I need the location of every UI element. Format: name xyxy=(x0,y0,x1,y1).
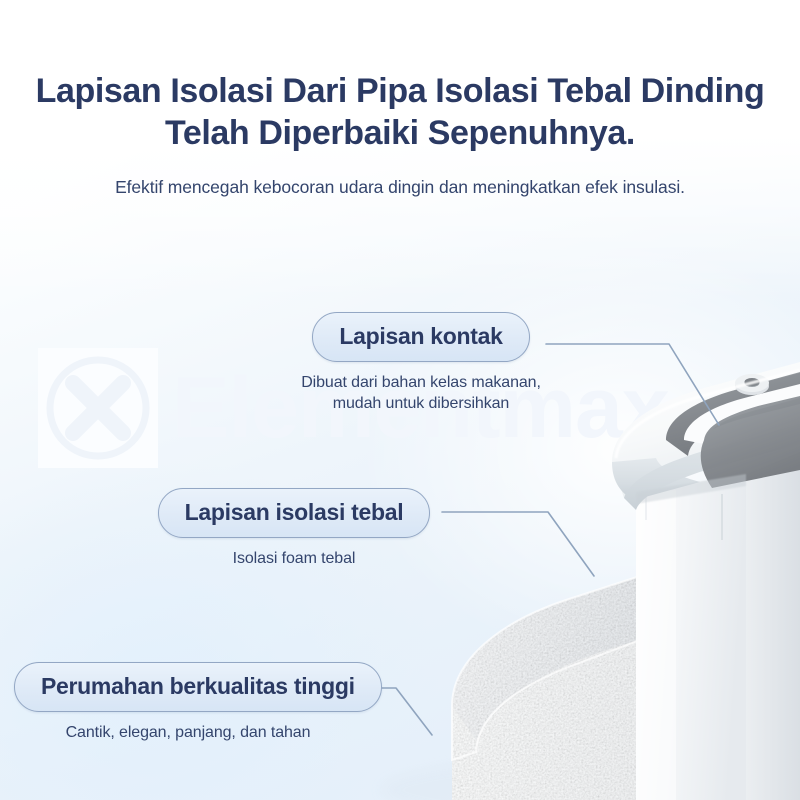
headline-line-1: Lapisan Isolasi Dari Pipa Isolasi Tebal … xyxy=(18,70,782,112)
white-plastic-lid-rim xyxy=(612,362,800,510)
callout-description-3: Cantik, elegan, panjang, dan tahan xyxy=(14,723,362,744)
page-subtitle: Efektif mencegah kebocoran udara dingin … xyxy=(0,176,800,200)
infographic-canvas: Elementmax xyxy=(0,0,800,800)
round-fitting-grommet xyxy=(735,374,769,395)
page-title: Lapisan Isolasi Dari Pipa Isolasi Tebal … xyxy=(0,70,800,154)
callout-perumahan-berkualitas-tinggi: Perumahan berkualitas tinggi Cantik, ele… xyxy=(14,662,362,744)
outer-housing-panel xyxy=(636,452,800,800)
callout-lapisan-kontak: Lapisan kontak Dibuat dari bahan kelas m… xyxy=(296,312,546,415)
callout-description-1: Dibuat dari bahan kelas makanan, mudah u… xyxy=(296,373,546,415)
circled-x-icon xyxy=(38,348,158,468)
callout-lapisan-isolasi-tebal: Lapisan isolasi tebal Isolasi foam tebal xyxy=(146,488,442,570)
callout-label-1: Lapisan kontak xyxy=(312,312,529,362)
header-block: Lapisan Isolasi Dari Pipa Isolasi Tebal … xyxy=(0,0,800,200)
headline-line-2: Telah Diperbaiki Sepenuhnya. xyxy=(18,112,782,154)
callout-label-2: Lapisan isolasi tebal xyxy=(158,488,431,538)
callout-description-2: Isolasi foam tebal xyxy=(146,549,442,570)
foam-insulation-wall xyxy=(380,470,800,800)
leader-line-1 xyxy=(546,344,719,425)
leader-line-2 xyxy=(442,512,594,576)
background-glow-right xyxy=(360,240,800,660)
callout-label-3: Perumahan berkualitas tinggi xyxy=(14,662,382,712)
